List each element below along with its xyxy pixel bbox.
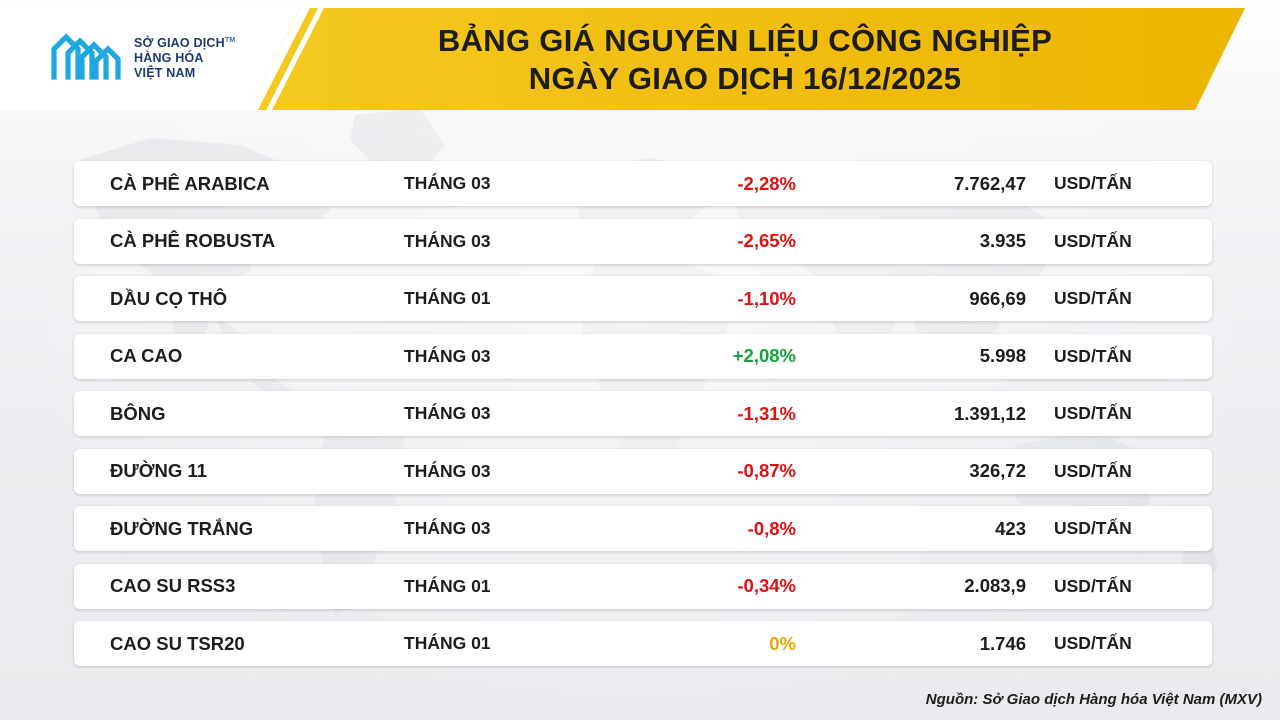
mxv-logo-icon xyxy=(48,27,124,87)
price-value: 3.935 xyxy=(804,230,1054,252)
header: SỞ GIAO DỊCHTM HÀNG HÓA VIỆT NAM BẢNG GI… xyxy=(0,0,1280,118)
commodity-name: DẦU CỌ THÔ xyxy=(74,288,404,310)
price-value: 1.391,12 xyxy=(804,403,1054,425)
price-value: 423 xyxy=(804,518,1054,540)
price-value: 326,72 xyxy=(804,460,1054,482)
price-value: 2.083,9 xyxy=(804,575,1054,597)
table-row: DẦU CỌ THÔTHÁNG 01-1,10%966,69USD/TẤN xyxy=(74,276,1212,321)
page-title: BẢNG GIÁ NGUYÊN LIỆU CÔNG NGHIỆP NGÀY GI… xyxy=(330,22,1160,98)
table-row: ĐƯỜNG 11THÁNG 03-0,87%326,72USD/TẤN xyxy=(74,449,1212,494)
price-unit: USD/TẤN xyxy=(1054,576,1212,597)
table-row: CÀ PHÊ ROBUSTATHÁNG 03-2,65%3.935USD/TẤN xyxy=(74,219,1212,264)
price-unit: USD/TẤN xyxy=(1054,633,1212,654)
commodity-name: CA CAO xyxy=(74,345,404,367)
price-change: 0% xyxy=(604,633,804,655)
table-row: CA CAOTHÁNG 03+2,08%5.998USD/TẤN xyxy=(74,334,1212,379)
price-change: -2,28% xyxy=(604,173,804,195)
page-title-line-1: BẢNG GIÁ NGUYÊN LIỆU CÔNG NGHIỆP xyxy=(330,22,1160,60)
brand-logo-text: SỞ GIAO DỊCHTM HÀNG HÓA VIỆT NAM xyxy=(134,33,235,81)
price-change: -0,8% xyxy=(604,518,804,540)
contract-month: THÁNG 01 xyxy=(404,633,604,654)
contract-month: THÁNG 03 xyxy=(404,461,604,482)
price-unit: USD/TẤN xyxy=(1054,346,1212,367)
commodity-name: ĐƯỜNG 11 xyxy=(74,460,404,482)
price-unit: USD/TẤN xyxy=(1054,231,1212,252)
commodity-name: CÀ PHÊ ARABICA xyxy=(74,173,404,195)
logo-trademark: TM xyxy=(225,37,236,44)
contract-month: THÁNG 03 xyxy=(404,403,604,424)
price-unit: USD/TẤN xyxy=(1054,518,1212,539)
price-value: 7.762,47 xyxy=(804,173,1054,195)
price-value: 5.998 xyxy=(804,345,1054,367)
contract-month: THÁNG 03 xyxy=(404,518,604,539)
logo-line-2: HÀNG HÓA xyxy=(134,51,235,66)
price-change: -2,65% xyxy=(604,230,804,252)
table-row: ĐƯỜNG TRẮNGTHÁNG 03-0,8%423USD/TẤN xyxy=(74,506,1212,551)
price-value: 966,69 xyxy=(804,288,1054,310)
contract-month: THÁNG 03 xyxy=(404,231,604,252)
table-row: CÀ PHÊ ARABICATHÁNG 03-2,28%7.762,47USD/… xyxy=(74,161,1212,206)
contract-month: THÁNG 03 xyxy=(404,173,604,194)
brand-logo: SỞ GIAO DỊCHTM HÀNG HÓA VIỆT NAM xyxy=(48,27,235,87)
price-unit: USD/TẤN xyxy=(1054,461,1212,482)
commodity-name: CAO SU TSR20 xyxy=(74,633,404,655)
contract-month: THÁNG 01 xyxy=(404,576,604,597)
contract-month: THÁNG 01 xyxy=(404,288,604,309)
price-change: -1,31% xyxy=(604,403,804,425)
page-title-line-2: NGÀY GIAO DỊCH 16/12/2025 xyxy=(330,60,1160,98)
source-note: Nguồn: Sở Giao dịch Hàng hóa Việt Nam (M… xyxy=(926,691,1262,708)
price-unit: USD/TẤN xyxy=(1054,173,1212,194)
price-change: -1,10% xyxy=(604,288,804,310)
price-change: -0,87% xyxy=(604,460,804,482)
logo-line-3: VIỆT NAM xyxy=(134,66,235,81)
price-value: 1.746 xyxy=(804,633,1054,655)
table-row: BÔNGTHÁNG 03-1,31%1.391,12USD/TẤN xyxy=(74,391,1212,436)
commodity-price-table: CÀ PHÊ ARABICATHÁNG 03-2,28%7.762,47USD/… xyxy=(74,161,1212,679)
table-row: CAO SU RSS3THÁNG 01-0,34%2.083,9USD/TẤN xyxy=(74,564,1212,609)
price-unit: USD/TẤN xyxy=(1054,288,1212,309)
commodity-name: BÔNG xyxy=(74,403,404,425)
commodity-name: CAO SU RSS3 xyxy=(74,575,404,597)
commodity-name: CÀ PHÊ ROBUSTA xyxy=(74,230,404,252)
contract-month: THÁNG 03 xyxy=(404,346,604,367)
price-change: +2,08% xyxy=(604,345,804,367)
price-change: -0,34% xyxy=(604,575,804,597)
price-unit: USD/TẤN xyxy=(1054,403,1212,424)
table-row: CAO SU TSR20THÁNG 010%1.746USD/TẤN xyxy=(74,621,1212,666)
commodity-name: ĐƯỜNG TRẮNG xyxy=(74,518,404,540)
logo-line-1: SỞ GIAO DỊCH xyxy=(134,36,225,50)
